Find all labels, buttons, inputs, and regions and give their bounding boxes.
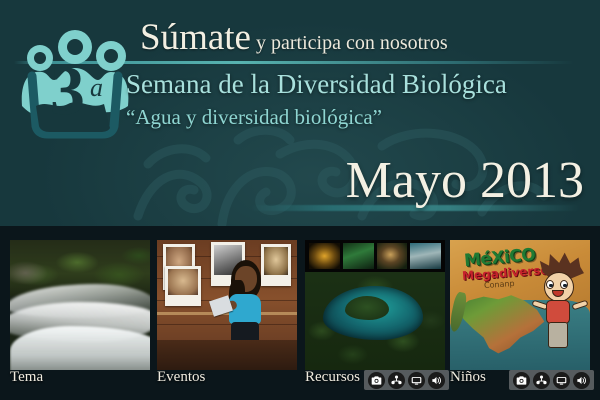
thumbnail-label-eventos[interactable]: Eventos (157, 369, 205, 386)
tagline-strong: Súmate (140, 17, 251, 58)
filmstrip-thumb-manatee[interactable] (410, 243, 441, 269)
mexico-megadiverso-poster: MéXiCO Megadiverso Conanp (450, 240, 590, 370)
thumbnail-strip: Tema (0, 226, 600, 400)
recursos-photo[interactable] (305, 240, 445, 370)
tema-photo[interactable] (10, 240, 150, 370)
tagline-rest: y participa con nosotros (251, 32, 448, 54)
filmstrip-thumb-green-quetzal-bird[interactable] (343, 243, 374, 269)
recursos-icon-bar[interactable] (364, 370, 449, 390)
recursos-filmstrip[interactable] (305, 240, 445, 272)
river-image (10, 240, 150, 370)
page-title: Semana de la Diversidad Biológica (126, 68, 507, 100)
ninos-photo[interactable]: MéXiCO Megadiverso Conanp (450, 240, 590, 370)
speaker-icon[interactable] (573, 372, 590, 389)
poster-line-3: Conanp (484, 279, 515, 290)
camera-icon[interactable] (368, 372, 385, 389)
filmstrip-thumb-orange-insect[interactable] (309, 243, 340, 269)
thumbnail-label-recursos[interactable]: Recursos (305, 369, 360, 386)
filmstrip-thumb-ocelot-wildcat[interactable] (377, 243, 408, 269)
event-date: Mayo 2013 (346, 152, 584, 210)
eventos-photo[interactable] (157, 240, 297, 370)
logo-ordinal: a (90, 73, 103, 102)
thumbnail-card-tema[interactable]: Tema (10, 240, 150, 370)
thumbnail-card-ninos[interactable]: MéXiCO Megadiverso Conanp Niños (450, 240, 590, 370)
exhibition-image (157, 240, 297, 370)
group-icon[interactable] (388, 372, 405, 389)
monitor-icon[interactable] (408, 372, 425, 389)
event-logo: 3 a (14, 14, 136, 142)
page-subtitle: “Agua y diversidad biológica” (126, 104, 382, 130)
thumbnail-label-ninos[interactable]: Niños (450, 369, 486, 386)
tagline: Súmate y participa con nosotros (140, 16, 448, 65)
ninos-icon-bar[interactable] (509, 370, 594, 390)
camera-icon[interactable] (513, 372, 530, 389)
group-icon[interactable] (533, 372, 550, 389)
monitor-icon[interactable] (553, 372, 570, 389)
logo-numeral: 3 (50, 53, 85, 130)
thumbnail-card-recursos[interactable]: Recursos (305, 240, 445, 370)
speaker-icon[interactable] (428, 372, 445, 389)
thumbnail-card-eventos[interactable]: Eventos (157, 240, 297, 370)
thumbnail-label-tema[interactable]: Tema (10, 369, 43, 386)
header-banner: 3 a Súmate y participa con nosotros Sema… (0, 0, 600, 226)
page-root: 3 a Súmate y participa con nosotros Sema… (0, 0, 600, 400)
